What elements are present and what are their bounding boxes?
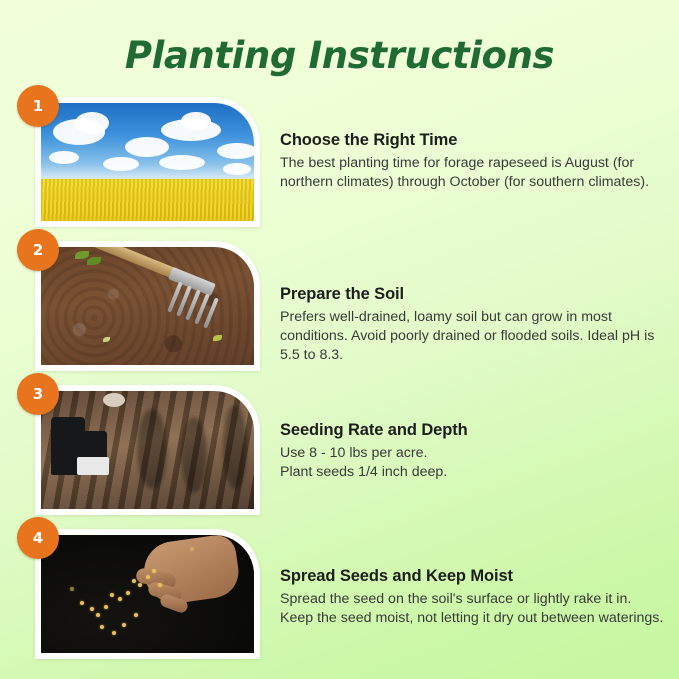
step-3-image-card: 3: [35, 385, 260, 515]
step-1-text: Choose the Right Time The best planting …: [260, 97, 679, 192]
step-number-badge-4: 4: [17, 517, 59, 559]
step-1-body: The best planting time for forage rapese…: [280, 154, 665, 192]
step-2-text: Prepare the Soil Prefers well-drained, l…: [260, 241, 679, 365]
step-item-2: 2: [0, 241, 679, 371]
step-3-body: Use 8 - 10 lbs per acre. Plant seeds 1/4…: [280, 444, 665, 482]
step-4-text: Spread Seeds and Keep Moist Spread the s…: [260, 529, 679, 628]
step-3-title: Seeding Rate and Depth: [280, 421, 665, 440]
step-1-image-card: 1: [35, 97, 260, 227]
tilled-furrows-photo: [41, 391, 254, 509]
rake-on-soil-photo: [41, 247, 254, 365]
step-2-image-card: 2: [35, 241, 260, 371]
step-item-4: 4: [0, 529, 679, 659]
step-4-title: Spread Seeds and Keep Moist: [280, 567, 665, 586]
planting-instructions-infographic: Planting Instructions 1 Choose: [0, 0, 679, 679]
hand-sowing-seeds-photo: [41, 535, 254, 653]
field-sky-art: [41, 103, 254, 221]
step-number-badge-1: 1: [17, 85, 59, 127]
steps-list: 1 Choose the Right Time The best plantin…: [0, 77, 679, 659]
step-1-title: Choose the Right Time: [280, 131, 665, 150]
step-2-title: Prepare the Soil: [280, 285, 665, 304]
step-number-badge-2: 2: [17, 229, 59, 271]
step-4-body: Spread the seed on the soil's surface or…: [280, 590, 665, 628]
furrow-art: [41, 391, 254, 509]
step-item-1: 1 Choose the Right Time The best plantin…: [0, 97, 679, 227]
rapeseed-field-photo: [41, 103, 254, 221]
seed-sowing-art: [41, 535, 254, 653]
step-item-3: 3 Seeding Rate and Depth Use 8 - 10 lbs: [0, 385, 679, 515]
page-title: Planting Instructions: [0, 0, 679, 77]
soil-art: [41, 247, 254, 365]
step-3-text: Seeding Rate and Depth Use 8 - 10 lbs pe…: [260, 385, 679, 482]
step-number-badge-3: 3: [17, 373, 59, 415]
step-4-image-card: 4: [35, 529, 260, 659]
step-2-body: Prefers well-drained, loamy soil but can…: [280, 308, 665, 365]
